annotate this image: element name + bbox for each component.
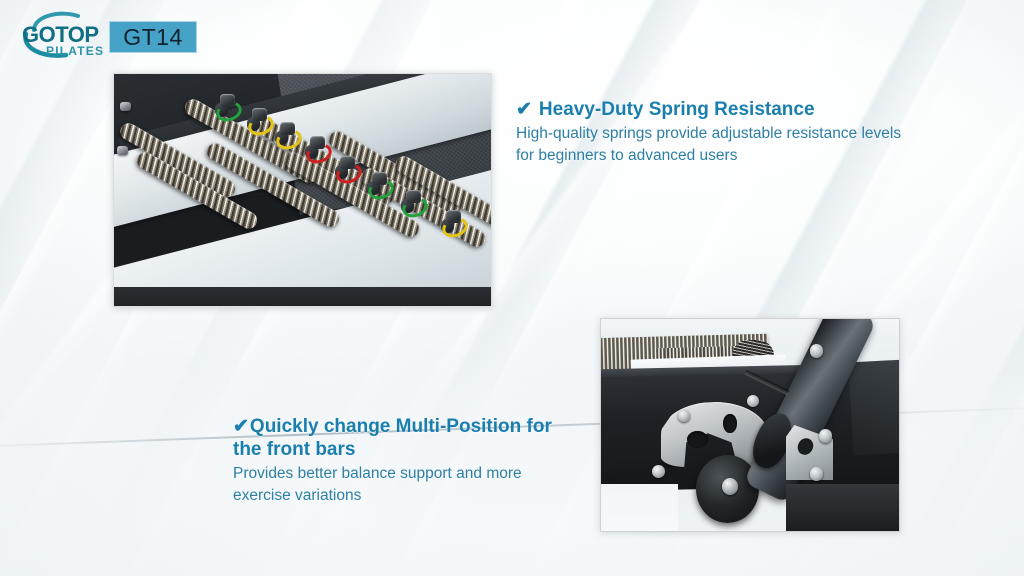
photo-springs-clip-yellow xyxy=(274,122,300,146)
photo-bars-bottom-light xyxy=(600,484,678,532)
feature-block-multi-position-bars: ✔Quickly change Multi-Position for the f… xyxy=(233,415,578,507)
photo-springs-clip-red xyxy=(304,136,330,160)
feature-1-heading: Heavy-Duty Spring Resistance xyxy=(539,99,815,120)
photo-bars-bolt xyxy=(810,344,824,358)
model-badge: GT14 xyxy=(109,21,197,53)
feature-2-heading: Quickly change Multi-Position for the fr… xyxy=(233,416,552,460)
slide-canvas: GOTOP PILATES GT14 xyxy=(0,0,1024,576)
photo-springs-clip-red xyxy=(334,156,360,180)
photo-springs-bolt xyxy=(117,146,128,155)
checkmark-icon: ✔ xyxy=(233,415,249,438)
feature-1-heading-row: ✔Heavy-Duty Spring Resistance xyxy=(516,98,916,121)
photo-springs-bolt xyxy=(120,102,131,111)
feature-block-spring-resistance: ✔Heavy-Duty Spring Resistance High-quali… xyxy=(516,98,916,167)
photo-springs-clip-green xyxy=(366,172,392,196)
logo-subwordmark: PILATES xyxy=(46,44,104,58)
photo-springs-clip-yellow xyxy=(440,210,466,234)
feature-1-body: High-quality springs provide adjustable … xyxy=(516,123,916,167)
photo-springs-clip-green xyxy=(214,94,240,118)
photo-springs-clip-green xyxy=(400,190,426,214)
photo-bars-bolt xyxy=(819,429,833,443)
photo-springs-clip-yellow xyxy=(246,108,272,132)
checkmark-icon: ✔ xyxy=(516,98,532,121)
photo-bars-lower-block xyxy=(786,484,900,531)
photo-front-bar-pivot xyxy=(600,318,900,532)
photo-springs-bottom-shadow xyxy=(113,287,492,307)
photo-bars-bolt xyxy=(652,465,665,478)
feature-2-heading-row: ✔Quickly change Multi-Position for the f… xyxy=(233,415,578,461)
photo-bars-arc-slot xyxy=(723,414,736,433)
model-badge-label: GT14 xyxy=(123,26,183,49)
photo-springs-closeup xyxy=(113,73,492,307)
feature-2-body: Provides better balance support and more… xyxy=(233,463,578,507)
photo-bars-bolt xyxy=(810,467,824,481)
photo-bars-right-rail xyxy=(849,360,900,456)
photo-bars-wheel-hub-bolt xyxy=(722,478,738,495)
